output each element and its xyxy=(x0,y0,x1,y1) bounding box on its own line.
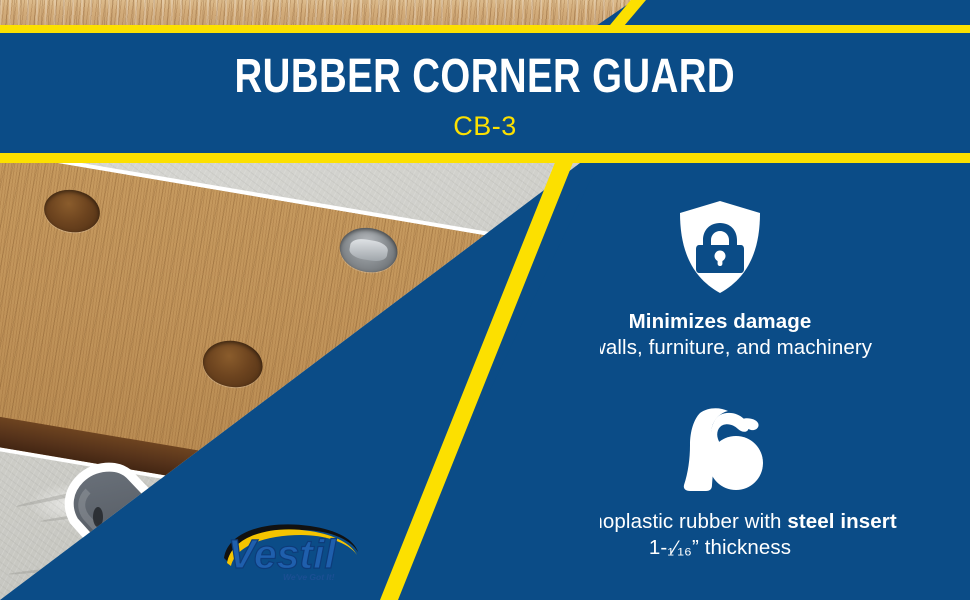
feature-item-minimizes-damage: Minimizes damage to walls, furniture, an… xyxy=(470,175,970,361)
feature-bold-line: Minimizes damage xyxy=(568,309,872,335)
vestil-wordmark: Vestil xyxy=(228,531,337,577)
feature-line-prefix: Thermoplastic rubber with xyxy=(543,510,787,533)
feature-sub-line: to walls, furniture, and machinery xyxy=(568,335,872,361)
yellow-rule-middle xyxy=(0,153,970,163)
flexed-bicep-icon xyxy=(672,405,768,493)
top-wood-strip xyxy=(0,0,970,26)
product-banner: RUBBER CORNER GUARD CB-3 xyxy=(0,0,970,600)
feature-main-line: Thermoplastic rubber with steel insert xyxy=(543,509,897,535)
bolt-hole xyxy=(199,336,266,391)
bolt-hole xyxy=(41,186,103,237)
shield-lock-icon xyxy=(677,199,763,295)
thickness-value: 1- xyxy=(649,536,667,559)
page-title: RUBBER CORNER GUARD xyxy=(235,52,735,102)
wood-texture-top xyxy=(0,0,634,26)
yellow-rule-top xyxy=(0,25,970,33)
model-number: CB-3 xyxy=(453,111,517,141)
feature-thickness-line: 1-₁⁄₁₆” thickness xyxy=(543,535,897,561)
feature-list: Minimizes damage to walls, furniture, an… xyxy=(470,175,970,595)
vestil-logo: Vestil We've Got It! xyxy=(218,518,364,584)
bolt-hole-with-screw xyxy=(336,224,401,277)
thickness-fraction: ₁⁄₁₆ xyxy=(667,537,692,559)
feature-text-steel-insert: Thermoplastic rubber with steel insert 1… xyxy=(543,509,897,561)
vestil-tagline: We've Got It! xyxy=(283,572,335,582)
thickness-unit: ” thickness xyxy=(692,536,791,559)
feature-text-minimizes-damage: Minimizes damage to walls, furniture, an… xyxy=(568,309,872,361)
feature-line-bold: steel insert xyxy=(787,510,896,533)
header-block: RUBBER CORNER GUARD CB-3 xyxy=(0,33,970,153)
feature-item-steel-insert: Thermoplastic rubber with steel insert 1… xyxy=(470,361,970,561)
